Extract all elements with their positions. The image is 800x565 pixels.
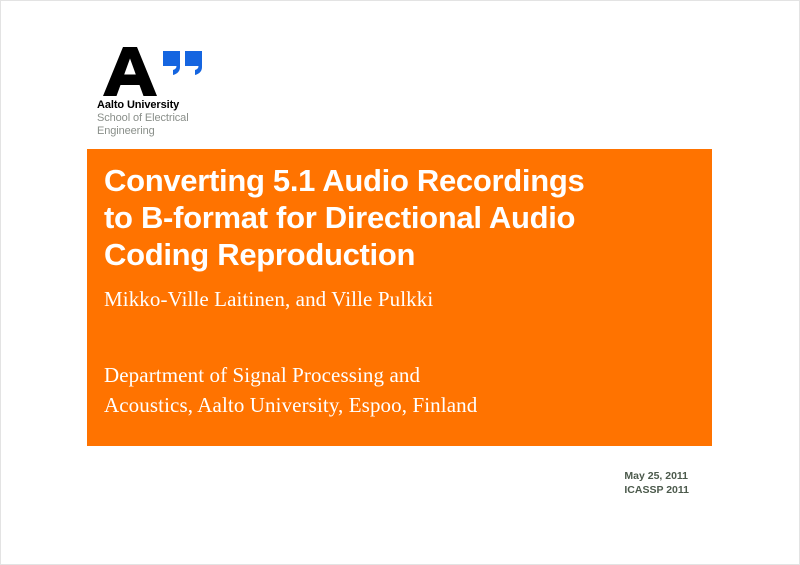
logo-wordmark: Aalto University School of Electrical En… xyxy=(97,99,227,139)
logo-school-line-2: Engineering xyxy=(97,125,227,138)
slide-footer: May 25, 2011 ICASSP 2011 xyxy=(624,469,689,497)
affiliation-line-2: Acoustics, Aalto University, Espoo, Finl… xyxy=(104,393,477,417)
aalto-logo-mark-icon xyxy=(97,45,217,97)
logo-school-line-1: School of Electrical xyxy=(97,112,227,125)
title-line-3: Coding Reproduction xyxy=(104,237,415,272)
authors-line: Mikko-Ville Laitinen, and Ville Pulkki xyxy=(104,286,700,313)
footer-conference: ICASSP 2011 xyxy=(624,483,689,497)
presentation-slide: Aalto University School of Electrical En… xyxy=(0,0,800,565)
title-line-1: Converting 5.1 Audio Recordings xyxy=(104,163,584,198)
logo-university-name: Aalto University xyxy=(97,99,227,112)
aalto-university-logo: Aalto University School of Electrical En… xyxy=(97,45,227,139)
footer-date: May 25, 2011 xyxy=(624,469,689,483)
affiliation-line-1: Department of Signal Processing and xyxy=(104,363,420,387)
page-title: Converting 5.1 Audio Recordings to B-for… xyxy=(104,163,700,274)
title-panel-content: Converting 5.1 Audio Recordings to B-for… xyxy=(104,163,700,421)
affiliation: Department of Signal Processing and Acou… xyxy=(104,361,700,421)
title-line-2: to B-format for Directional Audio xyxy=(104,200,575,235)
title-panel: Converting 5.1 Audio Recordings to B-for… xyxy=(87,149,712,446)
